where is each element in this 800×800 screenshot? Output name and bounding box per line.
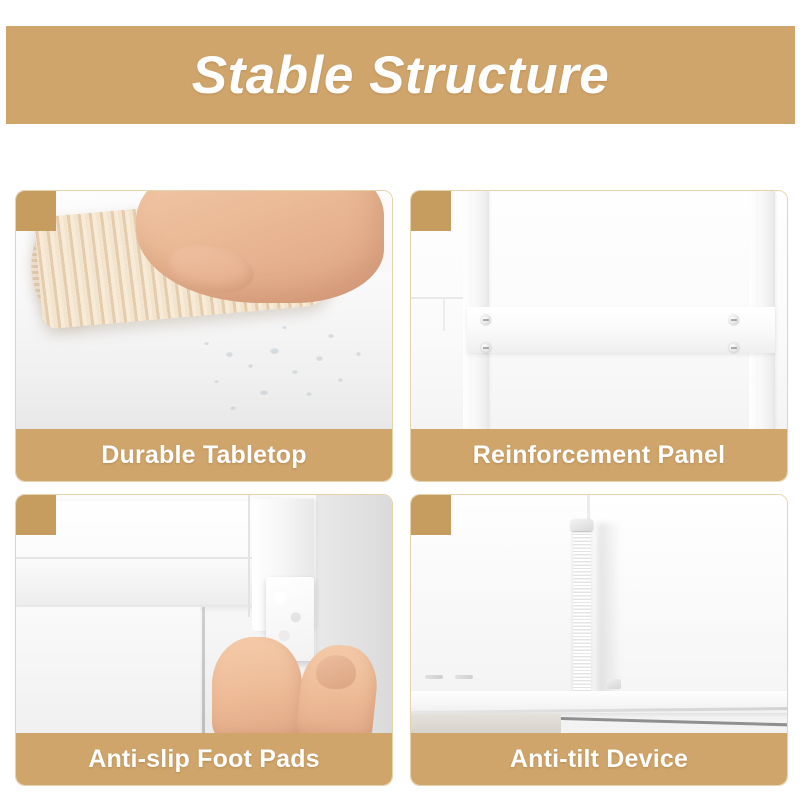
- panel-caption-text: Reinforcement Panel: [473, 441, 725, 470]
- panel-caption-bar: Durable Tabletop: [16, 429, 392, 481]
- water-droplet: [230, 405, 236, 410]
- panel-photo-reinforcement-panel: [411, 191, 787, 430]
- screw-icon: [481, 343, 491, 353]
- panel-caption-text: Durable Tabletop: [101, 441, 307, 470]
- water-droplet: [260, 389, 268, 395]
- screw-icon: [481, 315, 491, 325]
- hinge-icon: [455, 675, 473, 679]
- corner-notch-icon: [16, 191, 56, 231]
- panel-caption-text: Anti-tilt Device: [510, 745, 688, 774]
- water-droplet: [338, 377, 343, 382]
- water-droplet: [316, 355, 323, 361]
- feature-panel-reinforcement-panel[interactable]: Reinforcement Panel: [410, 190, 788, 482]
- feature-panel-durable-tabletop[interactable]: Durable Tabletop: [15, 190, 393, 482]
- strap-bracket: [607, 679, 621, 689]
- finger: [212, 637, 302, 734]
- water-droplet: [214, 379, 219, 383]
- corner-notch-icon: [16, 495, 56, 535]
- corner-notch-icon: [411, 495, 451, 535]
- water-droplet: [306, 391, 312, 396]
- hinge-icon: [425, 675, 443, 679]
- panel-caption-text: Anti-slip Foot Pads: [88, 745, 320, 774]
- feature-panel-anti-tilt-device[interactable]: Anti-tilt Device: [410, 494, 788, 786]
- water-droplet: [204, 341, 209, 345]
- cabinet-body: [16, 607, 200, 734]
- water-droplet: [292, 369, 298, 374]
- screw-icon: [729, 315, 739, 325]
- under-shelf-shadow: [411, 714, 561, 734]
- panel-photo-durable-tabletop: [16, 191, 392, 430]
- header-banner: Stable Structure: [6, 26, 795, 124]
- strap-shadow: [597, 523, 621, 693]
- anti-tilt-strap: [573, 525, 591, 691]
- panel-gap: [202, 607, 205, 734]
- fingertip: [316, 655, 356, 689]
- shelf-edge-hint: [443, 297, 445, 331]
- rail-seam: [16, 557, 270, 559]
- panel-photo-anti-tilt-device: [411, 495, 787, 734]
- feature-grid: Durable Tabletop Reinforcement Panel: [15, 190, 795, 786]
- water-droplet: [328, 333, 334, 338]
- corner-notch-icon: [411, 191, 451, 231]
- strap-anchor-icon: [571, 519, 593, 531]
- water-droplet: [248, 363, 253, 368]
- panel-photo-anti-slip-foot-pads: [16, 495, 392, 734]
- screw-icon: [729, 343, 739, 353]
- water-droplet: [226, 351, 233, 357]
- panel-caption-bar: Anti-slip Foot Pads: [16, 733, 392, 785]
- post-seam: [248, 495, 250, 617]
- water-droplet: [356, 351, 361, 356]
- shelf-edge-hint: [411, 297, 469, 299]
- shelf-gap-line: [561, 717, 787, 726]
- panel-caption-bar: Reinforcement Panel: [411, 429, 787, 481]
- reinforcement-bar-illustration: [411, 191, 787, 430]
- foot-pad-illustration: [16, 495, 392, 734]
- feature-panel-anti-slip-foot-pads[interactable]: Anti-slip Foot Pads: [15, 494, 393, 786]
- page-title: Stable Structure: [192, 45, 609, 106]
- water-droplet: [270, 347, 279, 354]
- tabletop-wipe-illustration: [16, 191, 392, 430]
- anti-tilt-illustration: [411, 495, 787, 734]
- panel-caption-bar: Anti-tilt Device: [411, 733, 787, 785]
- water-droplet: [282, 325, 287, 329]
